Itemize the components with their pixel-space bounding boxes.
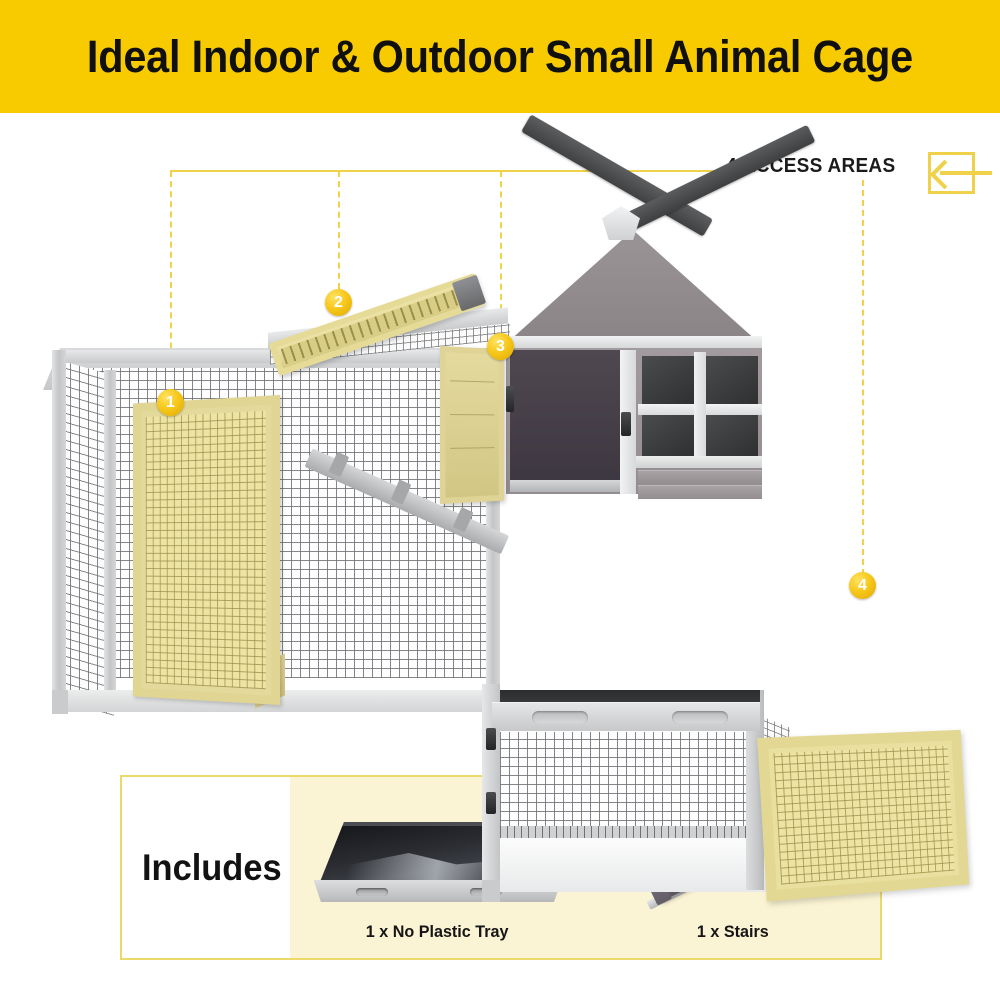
door-3-slat xyxy=(450,380,494,382)
house-panel-board xyxy=(638,470,762,484)
lower-run-latch-top[interactable] xyxy=(486,728,496,750)
tray-handle-right[interactable] xyxy=(672,711,728,724)
callout-badge-1[interactable]: 1 xyxy=(157,389,184,416)
house-doorway-opening xyxy=(510,350,620,492)
window-mullion-vertical xyxy=(694,352,706,460)
infographic-canvas: Ideal Indoor & Outdoor Small Animal Cage… xyxy=(0,0,1000,1000)
page-title: Ideal Indoor & Outdoor Small Animal Cage xyxy=(87,31,913,83)
door-3-slat xyxy=(450,414,494,415)
tray-slot-handle xyxy=(356,888,388,896)
window-pane xyxy=(642,356,694,404)
door-4-mesh-panel xyxy=(774,746,955,885)
callout-badge-3[interactable]: 3 xyxy=(487,333,514,360)
run-foot-left xyxy=(52,690,68,714)
lower-run-mesh-base-strip xyxy=(500,826,746,838)
house-doorway-floor xyxy=(510,480,622,492)
callout-badge-4[interactable]: 4 xyxy=(849,572,876,599)
includes-caption: 1 x Stairs xyxy=(697,922,769,942)
gable-wall xyxy=(508,230,758,342)
lower-run-floor xyxy=(482,836,766,892)
includes-caption: 1 x No Plastic Tray xyxy=(366,922,509,942)
lower-run-latch-bottom[interactable] xyxy=(486,792,496,814)
callout-rail xyxy=(170,170,722,172)
includes-label-box: Includes xyxy=(122,777,290,958)
hutch-house xyxy=(480,200,820,700)
house-panel-board xyxy=(638,485,762,499)
door-4-lower-mesh[interactable] xyxy=(757,730,969,902)
includes-label: Includes xyxy=(142,847,282,889)
window-pane xyxy=(706,414,758,456)
lower-run-foot-left xyxy=(482,880,500,902)
tray-handle-left[interactable] xyxy=(532,711,588,724)
header-banner: Ideal Indoor & Outdoor Small Animal Cage xyxy=(0,0,1000,113)
product-illustration xyxy=(0,190,1000,740)
callout-badge-2[interactable]: 2 xyxy=(325,289,352,316)
window-pane xyxy=(642,414,694,456)
door-3-slat xyxy=(450,447,494,449)
house-door-latch[interactable] xyxy=(621,412,631,436)
run-post-left xyxy=(52,350,66,705)
lower-run-front-mesh xyxy=(500,732,746,830)
door-3-wooden-side[interactable] xyxy=(440,346,504,504)
door-1-mesh-panel xyxy=(146,411,266,689)
door-3-hinge xyxy=(506,386,514,412)
window-sill xyxy=(636,456,762,468)
run-post-left-inner xyxy=(104,370,116,690)
door-1-front-mesh[interactable] xyxy=(133,395,280,705)
window-pane xyxy=(706,356,758,404)
